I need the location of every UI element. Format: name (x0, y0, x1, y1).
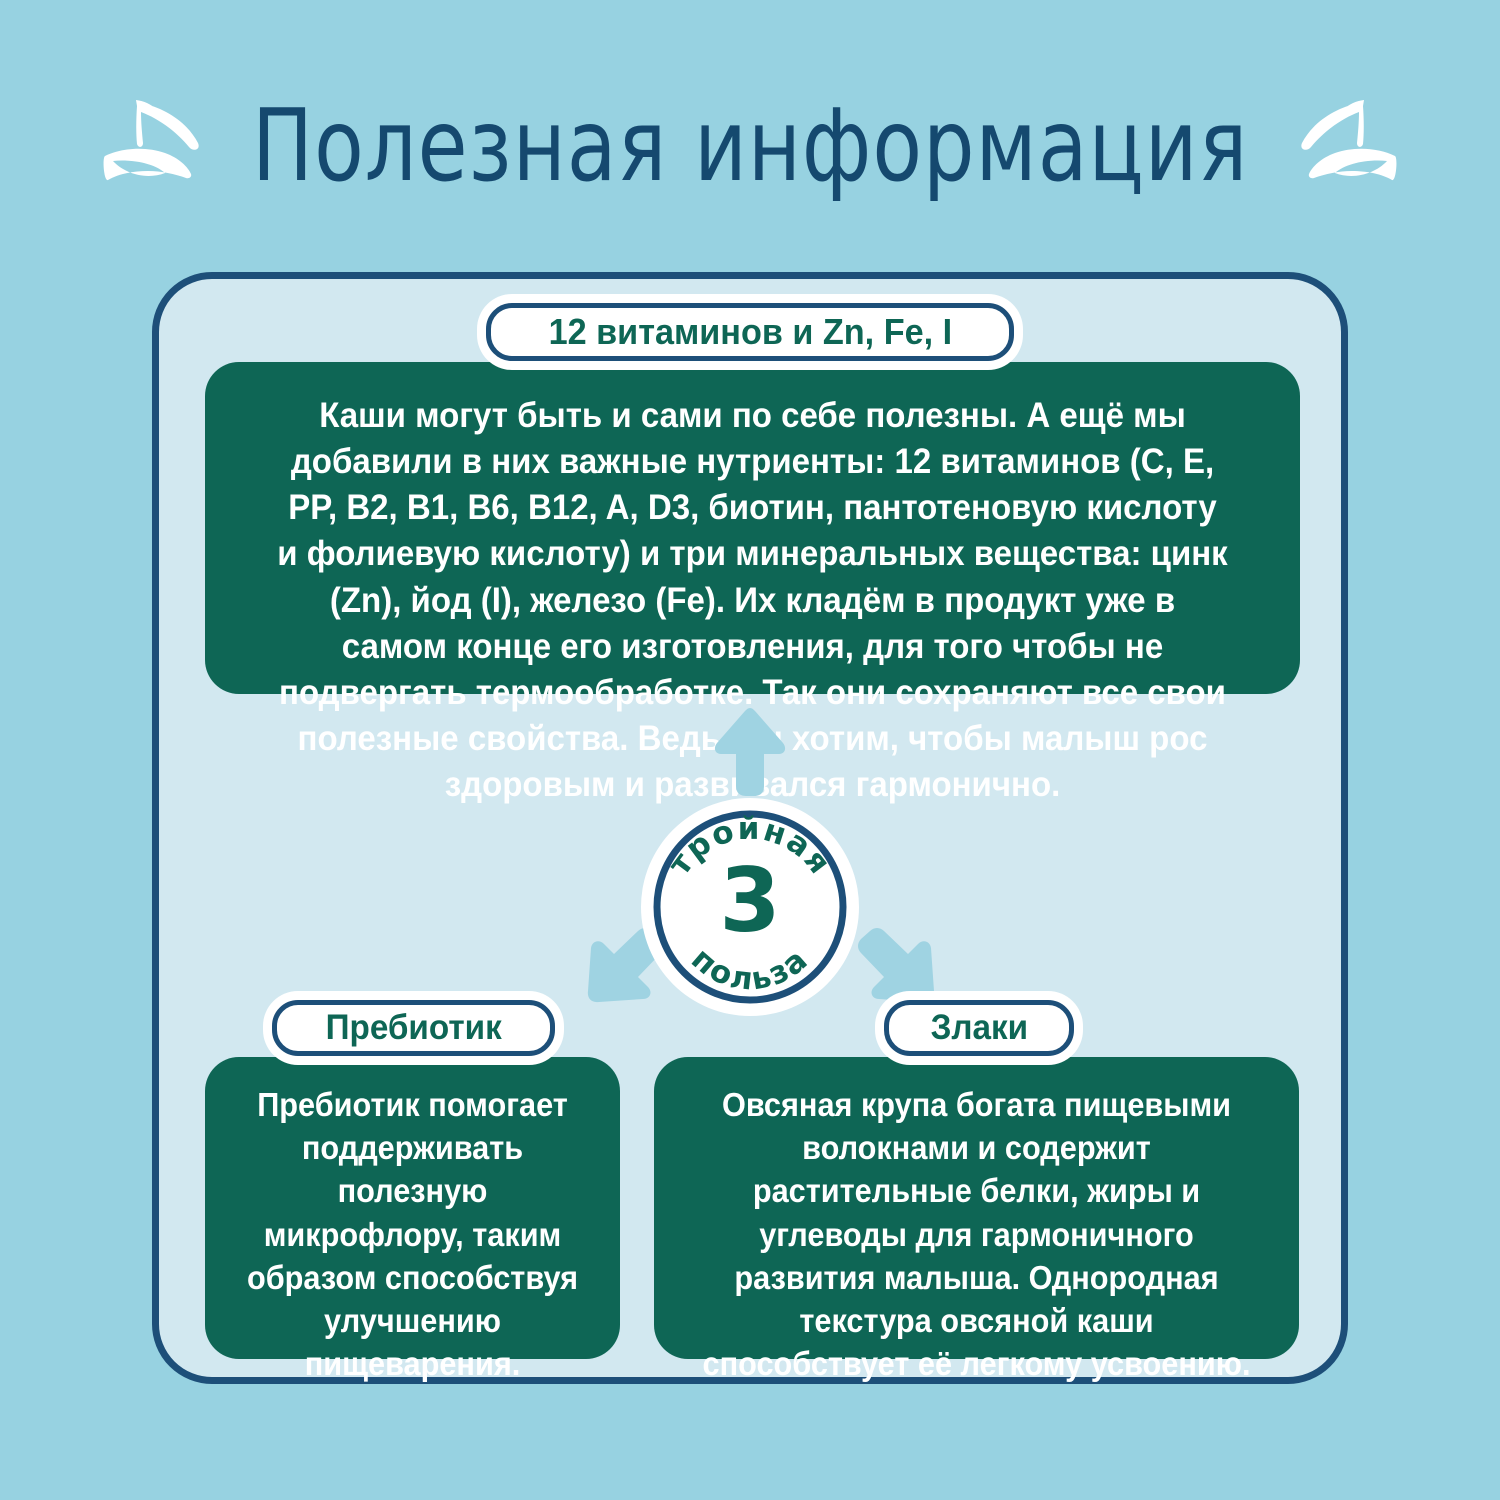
grains-body-text: Овсяная крупа богата пищевыми волокнами … (695, 1083, 1258, 1386)
grains-badge-label: Злаки (930, 1008, 1028, 1048)
leaf-sprout-icon (103, 100, 213, 192)
page-title: Полезная информация (252, 88, 1248, 204)
grains-card: Овсяная крупа богата пищевыми волокнами … (654, 1057, 1299, 1359)
grains-badge: Злаки (884, 1000, 1074, 1056)
leaf-sprout-icon (1287, 100, 1397, 192)
triple-benefit-seal: тройная польза 3 (641, 798, 859, 1016)
prebiotic-body-text: Пребиотик помогает поддерживать полезную… (236, 1083, 588, 1386)
vitamins-badge: 12 витаминов и Zn, Fe, I (486, 303, 1014, 361)
arrow-up-icon (712, 706, 788, 798)
vitamins-card: Каши могут быть и сами по себе полезны. … (205, 362, 1300, 694)
page-header: Полезная информация (0, 86, 1500, 206)
vitamins-badge-label: 12 витаминов и Zn, Fe, I (548, 311, 951, 353)
prebiotic-badge-label: Пребиотик (325, 1008, 501, 1048)
seal-number: 3 (719, 849, 780, 952)
prebiotic-badge: Пребиотик (272, 1000, 555, 1056)
prebiotic-card: Пребиотик помогает поддерживать полезную… (205, 1057, 620, 1359)
